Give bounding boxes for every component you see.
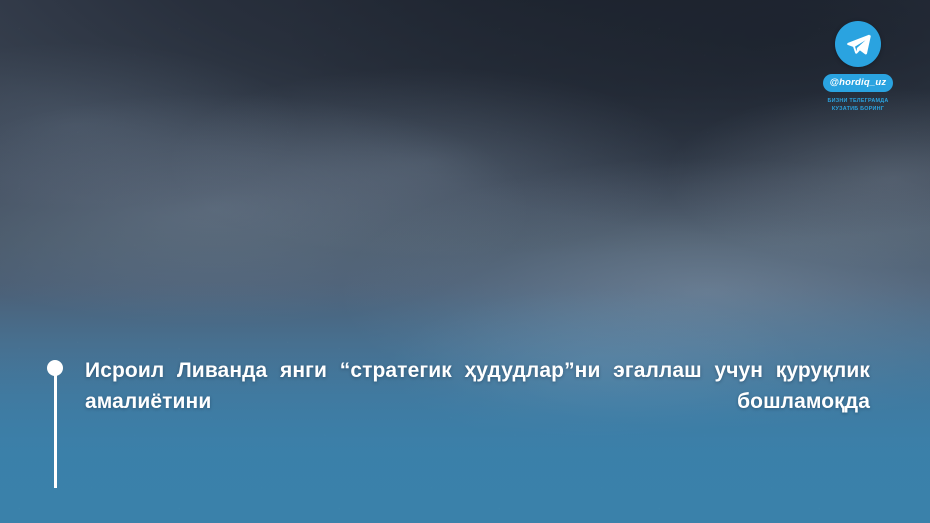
- accent-marker: [46, 356, 64, 488]
- headline-text: Исроил Ливанда янги “стратегик ҳудудлар”…: [85, 356, 870, 448]
- accent-line: [54, 374, 57, 488]
- telegram-watermark[interactable]: @hordiq_uz БИЗНИ ТЕЛЕГРАМДА КУЗАТИБ БОРИ…: [808, 21, 908, 113]
- news-card: @hordiq_uz БИЗНИ ТЕЛЕГРАМДА КУЗАТИБ БОРИ…: [0, 0, 930, 523]
- telegram-handle-pill[interactable]: @hordiq_uz: [823, 74, 894, 92]
- telegram-paper-plane-icon[interactable]: [835, 21, 881, 67]
- telegram-follow-caption: БИЗНИ ТЕЛЕГРАМДА КУЗАТИБ БОРИНГ: [828, 97, 889, 113]
- headline-block: Исроил Ливанда янги “стратегик ҳудудлар”…: [46, 356, 870, 488]
